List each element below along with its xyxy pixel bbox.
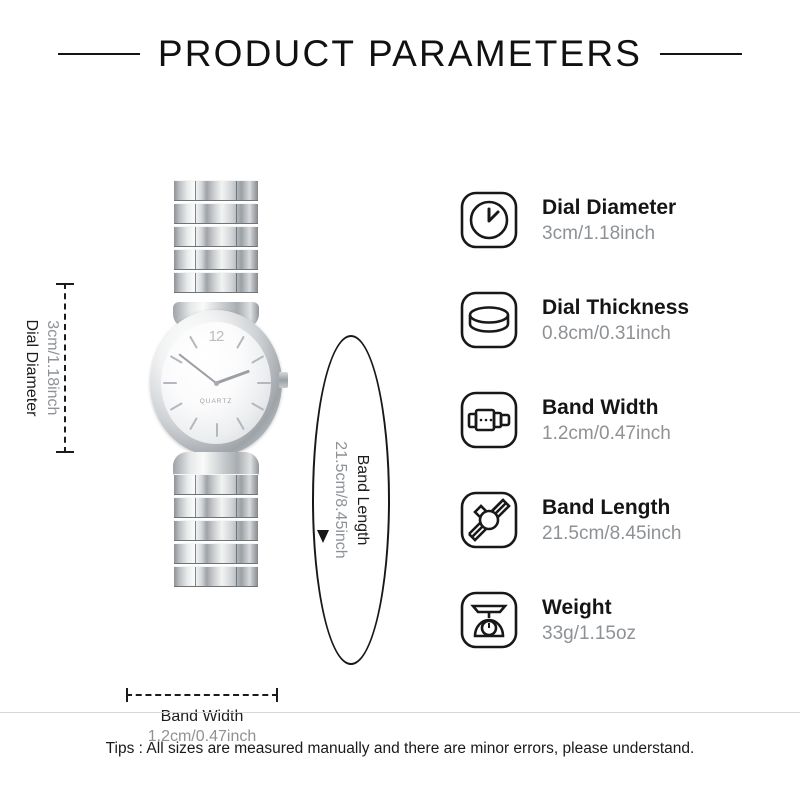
spec-label: Band Width xyxy=(542,394,671,421)
spec-text-block: Weight 33g/1.15oz xyxy=(542,594,636,647)
band-length-callout-labels: Band Length 21.5cm/8.45inch xyxy=(330,441,372,558)
callout-dashed-line xyxy=(64,283,66,453)
spec-label: Dial Thickness xyxy=(542,294,689,321)
page-title: PRODUCT PARAMETERS xyxy=(158,33,642,75)
bracelet-link xyxy=(174,497,258,518)
dial-diameter-callout-labels: 3cm/1.18inch Dial Diameter xyxy=(21,320,62,417)
bracelet-link xyxy=(174,543,258,564)
spec-value: 0.8cm/0.31inch xyxy=(542,321,689,347)
watch-case: 12 QUARTZ xyxy=(150,310,282,456)
band-length-callout-value: 21.5cm/8.45inch xyxy=(330,441,352,558)
watch-crown xyxy=(279,372,288,388)
watch-strap-diagonal-icon xyxy=(458,489,520,551)
product-photo-area: 12 QUARTZ xyxy=(0,120,440,680)
spec-value: 1.2cm/0.47inch xyxy=(542,421,671,447)
bracelet-link xyxy=(174,474,258,495)
watch-bracelet-upper xyxy=(174,180,258,306)
spec-text-block: Dial Diameter 3cm/1.18inch xyxy=(542,194,676,247)
dial-tick xyxy=(257,382,271,384)
disc-thickness-icon xyxy=(458,289,520,351)
callout-end-cap xyxy=(276,688,278,702)
footer-divider xyxy=(0,712,800,713)
dial-tick xyxy=(163,382,177,384)
spec-label: Weight xyxy=(542,594,636,621)
bracelet-link xyxy=(174,180,258,201)
band-length-callout: Band Length 21.5cm/8.45inch xyxy=(312,335,390,665)
spec-text-block: Band Length 21.5cm/8.45inch xyxy=(542,494,681,547)
title-rule-left-icon xyxy=(58,53,140,55)
watch-clasp-icon xyxy=(458,389,520,451)
spec-row-weight: Weight 33g/1.15oz xyxy=(458,570,788,670)
hand-pivot xyxy=(214,381,219,386)
dial-diameter-callout-value: 3cm/1.18inch xyxy=(41,320,62,415)
title-rule-right-icon xyxy=(660,53,742,55)
callout-dashed-line xyxy=(126,694,278,696)
dial-diameter-callout: 3cm/1.18inch Dial Diameter xyxy=(55,283,75,453)
spec-text-block: Band Width 1.2cm/0.47inch xyxy=(542,394,671,447)
specification-list: Dial Diameter 3cm/1.18inch Dial Thicknes… xyxy=(458,170,788,670)
bracelet-link xyxy=(174,566,258,587)
dial-diameter-callout-label: Dial Diameter xyxy=(21,320,41,417)
band-length-callout-label: Band Length xyxy=(351,455,372,546)
watch-dial: 12 QUARTZ xyxy=(161,322,271,444)
watch-bracelet-lower xyxy=(174,474,258,600)
dial-tick xyxy=(216,423,218,437)
spec-label: Band Length xyxy=(542,494,681,521)
kitchen-scale-icon xyxy=(458,589,520,651)
dial-numeral-12: 12 xyxy=(161,328,271,345)
bracelet-link xyxy=(174,272,258,293)
spec-value: 21.5cm/8.45inch xyxy=(542,521,681,547)
band-width-callout-label: Band Width xyxy=(126,707,278,727)
spec-value: 33g/1.15oz xyxy=(542,621,636,647)
bracelet-link xyxy=(174,520,258,541)
spec-row-dial-diameter: Dial Diameter 3cm/1.18inch xyxy=(458,170,788,270)
spec-value: 3cm/1.18inch xyxy=(542,221,676,247)
callout-end-cap xyxy=(56,451,74,453)
bracelet-link xyxy=(174,249,258,270)
dial-tick xyxy=(189,417,198,430)
bracelet-link xyxy=(174,203,258,224)
dial-tick xyxy=(236,417,245,430)
spec-row-band-length: Band Length 21.5cm/8.45inch xyxy=(458,470,788,570)
dial-brand-text: QUARTZ xyxy=(161,398,271,405)
product-parameters-page: PRODUCT PARAMETERS xyxy=(0,0,800,800)
callout-bar xyxy=(126,688,278,702)
minute-hand xyxy=(178,353,216,384)
spec-row-dial-thickness: Dial Thickness 0.8cm/0.31inch xyxy=(458,270,788,370)
spec-text-block: Dial Thickness 0.8cm/0.31inch xyxy=(542,294,689,347)
tips-note: Tips : All sizes are measured manually a… xyxy=(0,740,800,758)
bracelet-link xyxy=(174,226,258,247)
hour-hand xyxy=(215,370,249,385)
spec-row-band-width: Band Width 1.2cm/0.47inch xyxy=(458,370,788,470)
spec-label: Dial Diameter xyxy=(542,194,676,221)
band-width-callout: Band Width 1.2cm/0.47inch xyxy=(126,688,278,748)
page-header: PRODUCT PARAMETERS xyxy=(0,28,800,80)
watch-product-image: 12 QUARTZ xyxy=(150,180,282,600)
callout-arrowhead-icon xyxy=(317,530,329,543)
watch-dial-icon xyxy=(458,189,520,251)
dial-tick xyxy=(251,355,264,364)
